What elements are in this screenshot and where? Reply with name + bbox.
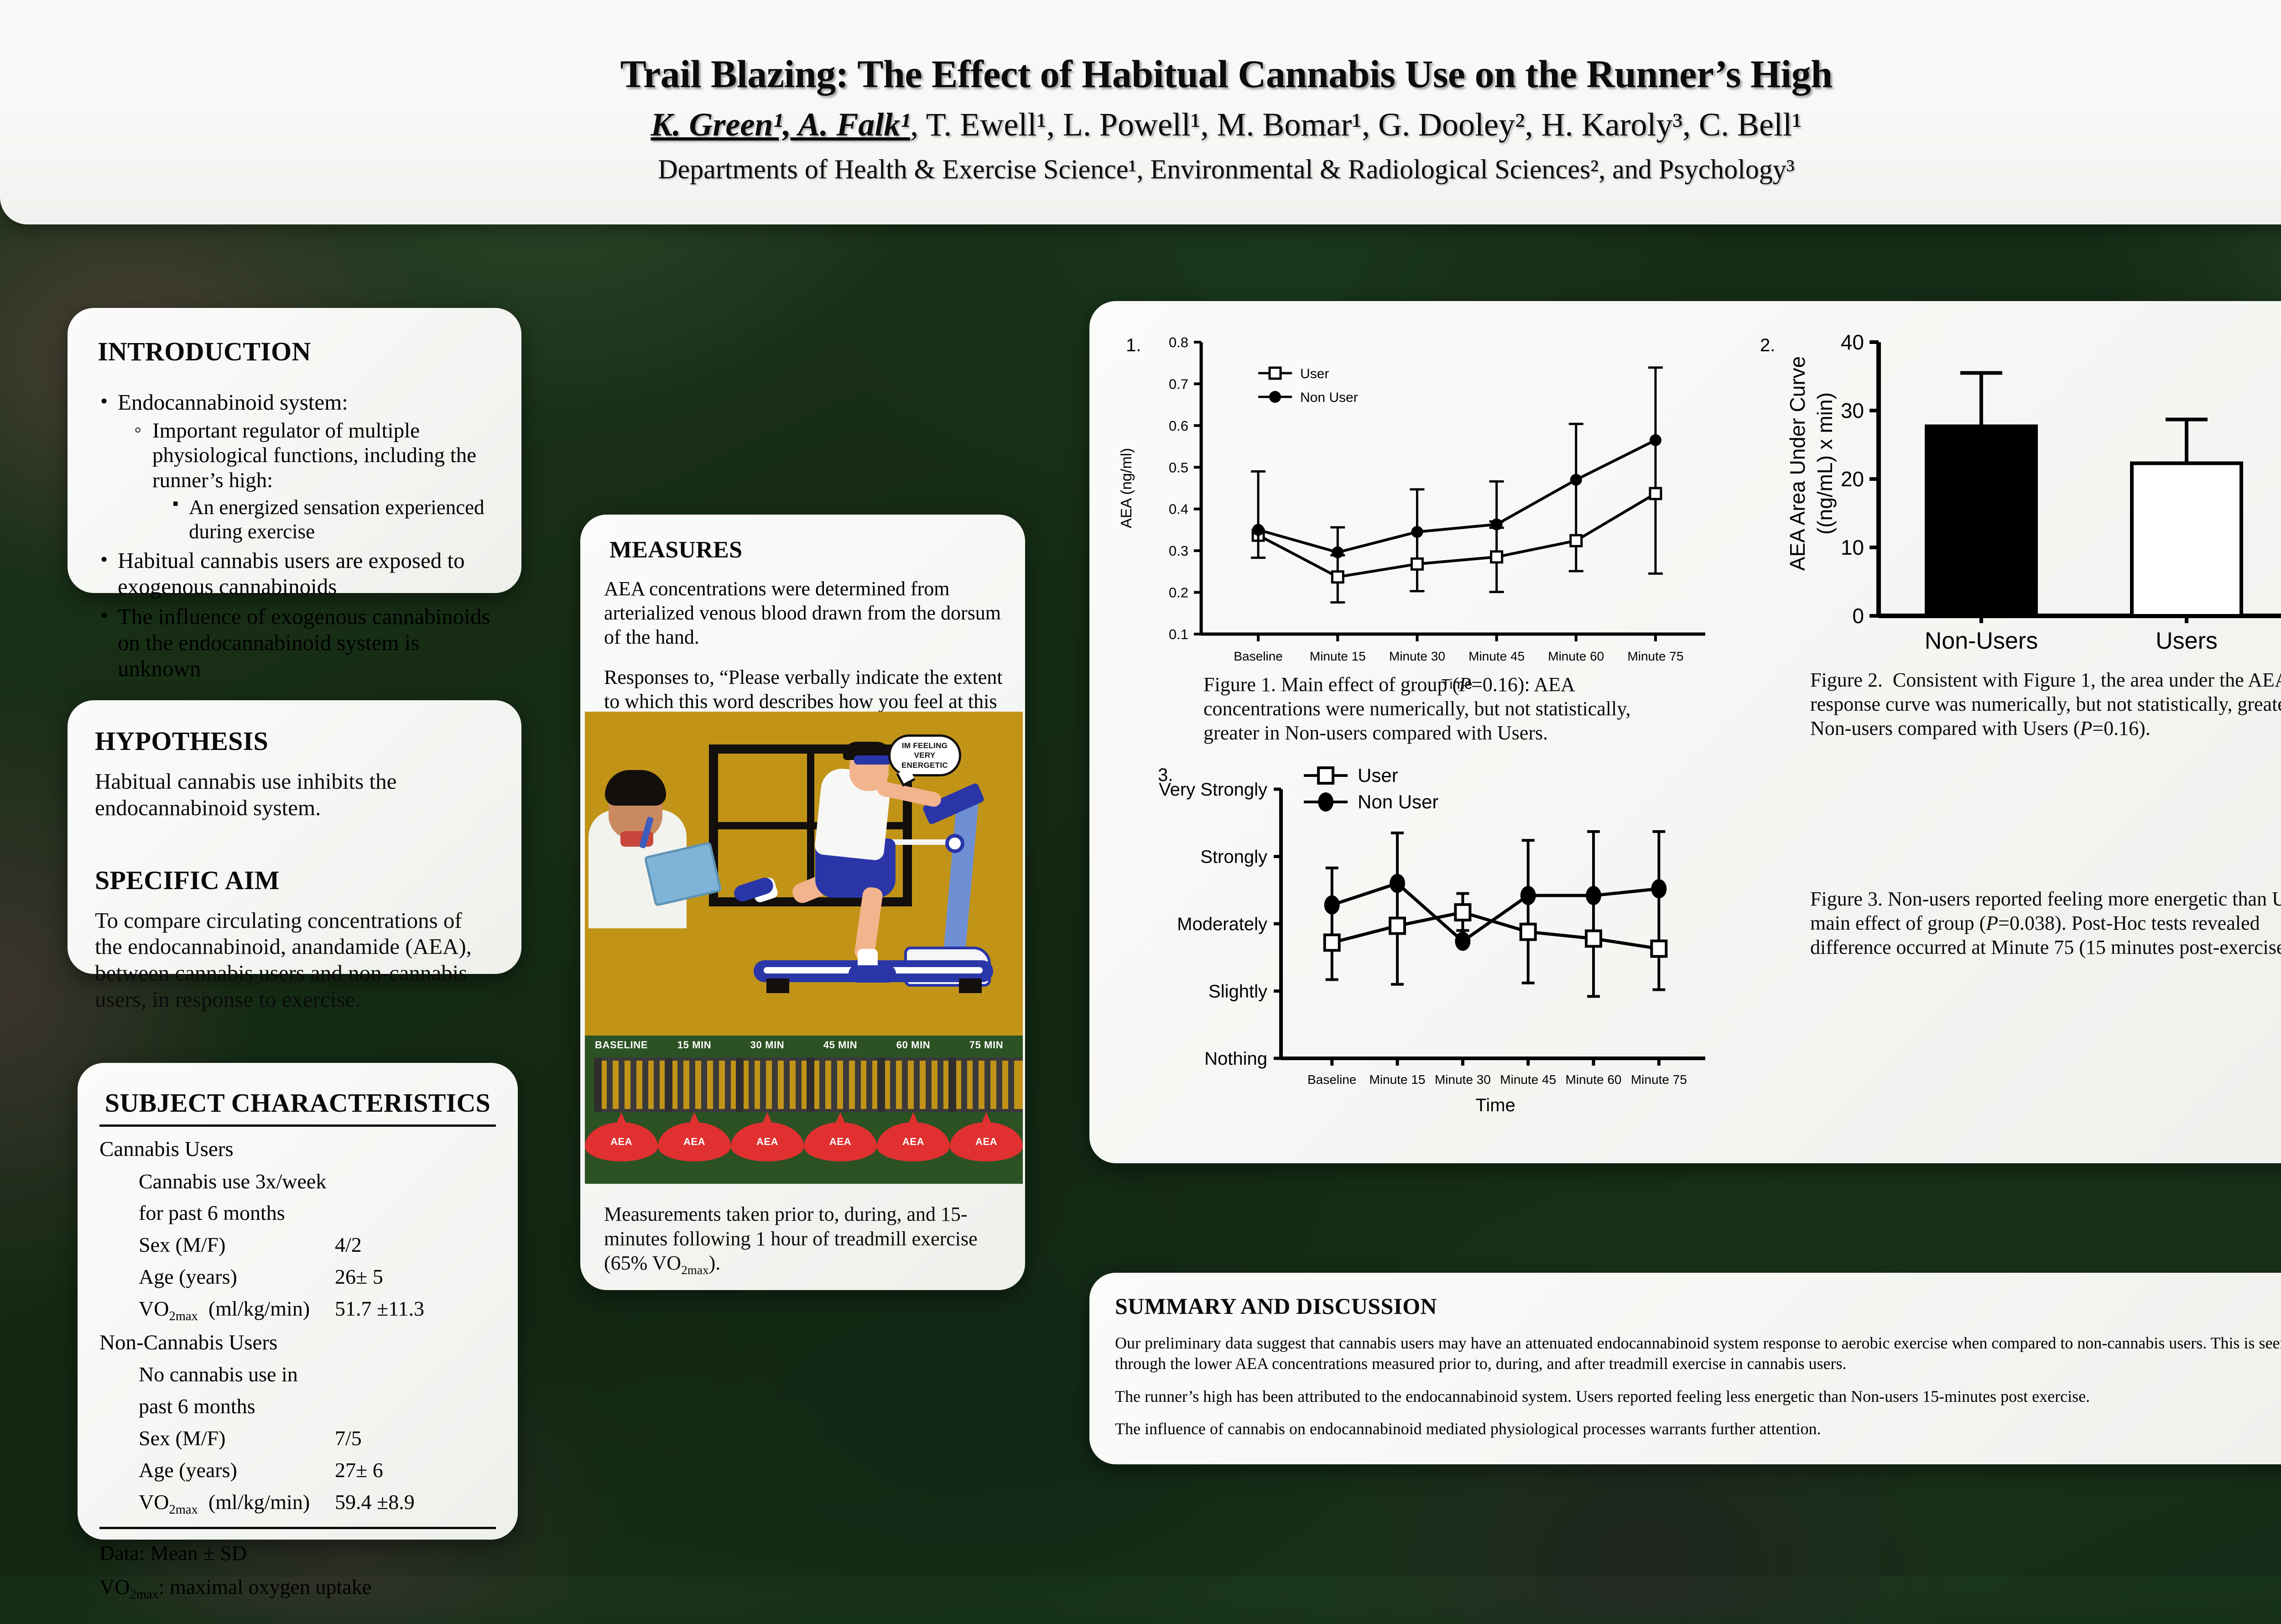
cell-value: 51.7 ±11.3: [335, 1293, 424, 1327]
svg-text:Minute 45: Minute 45: [1469, 649, 1525, 663]
fence-slat: [630, 1061, 636, 1109]
svg-text:Very Strongly: Very Strongly: [1159, 780, 1267, 800]
summary-title: SUMMARY AND DISCUSSION: [1115, 1293, 2281, 1319]
svg-text:Non User: Non User: [1358, 791, 1438, 812]
lead-authors: K. Green¹, A. Falk¹: [651, 106, 910, 143]
cell-label: Age (years): [139, 1261, 335, 1293]
hypothesis-text: Habitual cannabis use inhibits the endoc…: [95, 768, 494, 821]
summary-paragraph-1: Our preliminary data suggest that cannab…: [1115, 1333, 2281, 1374]
table-row: Age (years)27± 6: [99, 1454, 496, 1486]
cell-label: Sex (M/F): [139, 1229, 335, 1261]
cell-label: VO2max (ml/kg/min): [139, 1486, 335, 1520]
figure-3-chart: NothingSlightlyModeratelyStronglyVery St…: [1099, 757, 1719, 1136]
svg-text:Minute 75: Minute 75: [1627, 649, 1683, 663]
subject-characteristics-title: SUBJECT CHARACTERISTICS: [99, 1088, 496, 1118]
svg-text:AEA (ng/ml): AEA (ng/ml): [1118, 448, 1135, 528]
timeline-fence: [598, 1057, 1023, 1112]
treadmill-leg-right: [959, 979, 982, 993]
timeline-label: BASELINE: [585, 1039, 658, 1056]
drop-label: AEA: [829, 1136, 851, 1148]
svg-text:20: 20: [1841, 467, 1864, 491]
introduction-subsublist: An energized sensation experienced durin…: [171, 495, 497, 543]
svg-text:AEA Area Under Curve: AEA Area Under Curve: [1786, 356, 1809, 571]
study-protocol-illustration: IM FEELING VERY ENERGETIC BASELINE 15 MI…: [585, 712, 1023, 1184]
drop-label: AEA: [975, 1136, 997, 1148]
fence-slat: [713, 1061, 719, 1109]
bullet-text: Endocannabinoid system:: [118, 390, 348, 415]
table-row: VO2max (ml/kg/min)59.4 ±8.9: [99, 1486, 496, 1520]
speech-bubble-icon: IM FEELING VERY ENERGETIC: [888, 734, 961, 776]
list-item: The influence of exogenous cannabinoids …: [98, 604, 497, 682]
summary-paragraph-2: The runner’s high has been attributed to…: [1115, 1386, 2281, 1407]
table-row: Sex (M/F)4/2: [99, 1229, 496, 1261]
timeline-post: [736, 1058, 744, 1112]
table-row: No cannabis use in past 6 months: [99, 1359, 496, 1422]
svg-text:0.6: 0.6: [1169, 418, 1188, 434]
figure-3-caption: Figure 3. Non-users reported feeling mor…: [1810, 887, 2281, 959]
blood-drop-icon: AEA: [950, 1122, 1023, 1161]
svg-text:Users: Users: [2156, 628, 2218, 654]
table-row: Age (years)26± 5: [99, 1261, 496, 1293]
bullet-text: An energized sensation experienced durin…: [189, 496, 484, 542]
fence-slat: [831, 1061, 837, 1109]
fence-slat: [961, 1061, 967, 1109]
svg-text:Strongly: Strongly: [1200, 847, 1267, 867]
svg-text:0.8: 0.8: [1169, 334, 1188, 350]
svg-text:0.5: 0.5: [1169, 459, 1188, 475]
table-row: Sex (M/F)7/5: [99, 1422, 496, 1454]
svg-text:Minute 45: Minute 45: [1500, 1072, 1556, 1087]
blood-drop-icon: AEA: [585, 1122, 658, 1161]
measures-title: MEASURES: [604, 536, 1004, 563]
svg-text:User: User: [1300, 366, 1329, 381]
table-top-rule: [99, 1124, 496, 1127]
svg-text:0.4: 0.4: [1169, 501, 1188, 517]
timeline-labels: BASELINE 15 MIN 30 MIN 45 MIN 60 MIN 75 …: [585, 1039, 1023, 1056]
scientist-hair: [605, 770, 666, 806]
cell-label: VO2max (ml/kg/min): [139, 1293, 335, 1327]
bullet-text: Habitual cannabis users are exposed to e…: [118, 548, 465, 599]
svg-text:1.: 1.: [1126, 335, 1141, 355]
svg-text:Minute 75: Minute 75: [1631, 1072, 1687, 1087]
treadmill-knob: [945, 834, 964, 853]
svg-text:3.: 3.: [1158, 765, 1173, 785]
timeline-label: 45 MIN: [804, 1039, 877, 1056]
fence-slat: [677, 1061, 683, 1109]
fence-slat: [984, 1061, 990, 1109]
fence-slat: [866, 1061, 872, 1109]
svg-text:Minute 30: Minute 30: [1435, 1072, 1491, 1087]
measures-caption: Measurements taken prior to, during, and…: [580, 1202, 1025, 1278]
fence-slat: [796, 1061, 802, 1109]
svg-text:0.3: 0.3: [1169, 543, 1188, 559]
fence-slat: [772, 1061, 778, 1109]
fence-slat: [784, 1061, 790, 1109]
cell-note: No cannabis use in past 6 months: [139, 1359, 335, 1422]
timeline-post: [594, 1058, 602, 1112]
blood-sample-markers: AEA AEA AEA AEA AEA AEA: [585, 1122, 1023, 1161]
figure-1-chart: 0.10.20.30.40.50.60.70.8BaselineMinute 1…: [1099, 315, 1719, 716]
introduction-bullet-list: Endocannabinoid system: Important regula…: [98, 390, 497, 682]
timeline-label: 30 MIN: [731, 1039, 804, 1056]
svg-text:Non-Users: Non-Users: [1925, 628, 2038, 654]
svg-text:Minute 15: Minute 15: [1370, 1072, 1426, 1087]
fence-slat: [749, 1061, 755, 1109]
summary-paragraph-3: The influence of cannabis on endocannabi…: [1115, 1419, 2281, 1439]
svg-text:Minute 60: Minute 60: [1566, 1072, 1622, 1087]
group-heading-cannabis-users: Cannabis Users: [99, 1133, 496, 1166]
cell-label: Age (years): [139, 1454, 335, 1486]
blood-drop-icon: AEA: [877, 1122, 950, 1161]
table-row: Cannabis use 3x/week for past 6 months: [99, 1166, 496, 1229]
drop-label: AEA: [683, 1136, 705, 1148]
blood-drop-icon: AEA: [804, 1122, 877, 1161]
fence-slat: [760, 1061, 766, 1109]
fence-slat: [607, 1061, 613, 1109]
svg-text:0.7: 0.7: [1169, 376, 1188, 392]
fence-slat: [654, 1061, 660, 1109]
department-affiliations: Departments of Health & Exercise Science…: [658, 154, 1795, 185]
svg-text:Minute 30: Minute 30: [1389, 649, 1445, 663]
subject-characteristics-panel: SUBJECT CHARACTERISTICS Cannabis Users C…: [78, 1063, 518, 1540]
fence-slat: [973, 1061, 979, 1109]
svg-text:Non User: Non User: [1300, 390, 1358, 405]
list-item: Endocannabinoid system: Important regula…: [98, 390, 497, 543]
blood-drop-icon: AEA: [658, 1122, 731, 1161]
group-heading-non-cannabis-users: Non-Cannabis Users: [99, 1327, 496, 1359]
hypothesis-aim-panel: HYPOTHESIS Habitual cannabis use inhibit…: [68, 700, 521, 974]
fence-slat: [890, 1061, 896, 1109]
runner-headband: [854, 755, 891, 765]
timeline-label: 15 MIN: [658, 1039, 731, 1056]
fence-slat: [996, 1061, 1002, 1109]
protocol-timeline: BASELINE 15 MIN 30 MIN 45 MIN 60 MIN 75 …: [585, 1036, 1023, 1184]
figure-1-caption: Figure 1. Main effect of group (P=0.16):…: [1203, 673, 1669, 745]
cell-value: 59.4 ±8.9: [335, 1486, 415, 1520]
svg-text:Time: Time: [1475, 1095, 1515, 1115]
svg-text:((ng/mL) x min): ((ng/mL) x min): [1813, 392, 1837, 535]
svg-text:Minute 15: Minute 15: [1310, 649, 1366, 663]
bullet-text: The influence of exogenous cannabinoids …: [118, 604, 490, 681]
svg-text:0.1: 0.1: [1169, 626, 1188, 642]
list-item: An energized sensation experienced durin…: [171, 495, 497, 543]
summary-discussion-panel: SUMMARY AND DISCUSSION Our preliminary d…: [1089, 1273, 2281, 1464]
svg-text:30: 30: [1841, 399, 1864, 422]
blood-drop-icon: AEA: [731, 1122, 804, 1161]
fence-slat: [725, 1061, 731, 1109]
cell-value: 26± 5: [335, 1261, 383, 1293]
drop-label: AEA: [610, 1136, 632, 1148]
specific-aim-text: To compare circulating concentrations of…: [95, 907, 494, 1013]
fence-slat: [855, 1061, 861, 1109]
fence-slat: [819, 1061, 825, 1109]
introduction-title: INTRODUCTION: [98, 336, 497, 367]
speech-bubble-text: IM FEELING VERY ENERGETIC: [891, 741, 959, 770]
list-item: Important regulator of multiple physiolo…: [133, 418, 497, 543]
cell-note: Cannabis use 3x/week for past 6 months: [139, 1166, 335, 1229]
footnote-data: Data: Mean ± SD: [99, 1536, 496, 1570]
fence-slat: [1008, 1061, 1014, 1109]
runner-front-shoe: [849, 965, 896, 983]
list-item: Habitual cannabis users are exposed to e…: [98, 548, 497, 600]
svg-text:Baseline: Baseline: [1307, 1072, 1356, 1087]
cell-label: Sex (M/F): [139, 1422, 335, 1454]
svg-text:Moderately: Moderately: [1177, 914, 1267, 934]
cell-value: 27± 6: [335, 1454, 383, 1486]
results-panel: 0.10.20.30.40.50.60.70.8BaselineMinute 1…: [1089, 301, 2281, 1163]
cell-value: 4/2: [335, 1229, 362, 1261]
drop-label: AEA: [902, 1136, 924, 1148]
svg-text:2.: 2.: [1760, 335, 1775, 355]
fence-slat: [926, 1061, 932, 1109]
author-list: K. Green¹, A. Falk¹, T. Ewell¹, L. Powel…: [651, 106, 1802, 144]
svg-text:Minute 60: Minute 60: [1548, 649, 1604, 663]
svg-text:40: 40: [1841, 330, 1864, 354]
footnote-vo2max: VO2max: maximal oxygen uptake: [99, 1570, 496, 1605]
svg-text:User: User: [1358, 765, 1398, 786]
fence-slat: [642, 1061, 648, 1109]
cell-value: 7/5: [335, 1422, 362, 1454]
svg-text:Baseline: Baseline: [1234, 649, 1282, 663]
timeline-post: [877, 1058, 885, 1112]
fence-slat: [619, 1061, 625, 1109]
page-title: Trail Blazing: The Effect of Habitual Ca…: [620, 51, 1833, 97]
svg-text:0: 0: [1852, 604, 1864, 628]
fence-slat: [843, 1061, 849, 1109]
svg-text:Slightly: Slightly: [1208, 982, 1267, 1002]
introduction-sublist: Important regulator of multiple physiolo…: [133, 418, 497, 543]
introduction-panel: INTRODUCTION Endocannabinoid system: Imp…: [68, 308, 521, 593]
fence-slat: [902, 1061, 908, 1109]
specific-aim-title: SPECIFIC AIM: [95, 865, 494, 895]
figure-2-caption: Figure 2. Consistent with Figure 1, the …: [1810, 668, 2281, 740]
svg-text:0.2: 0.2: [1169, 585, 1188, 601]
timeline-label: 60 MIN: [877, 1039, 950, 1056]
timeline-post: [807, 1058, 814, 1112]
timeline-post: [665, 1058, 672, 1112]
bullet-text: Important regulator of multiple physiolo…: [152, 419, 476, 492]
svg-text:Nothing: Nothing: [1204, 1049, 1267, 1069]
fence-slat: [701, 1061, 707, 1109]
fence-slat: [937, 1061, 943, 1109]
timeline-label: 75 MIN: [950, 1039, 1023, 1056]
svg-text:10: 10: [1841, 536, 1864, 559]
co-authors: , T. Ewell¹, L. Powell¹, M. Bomar¹, G. D…: [910, 106, 1802, 143]
timeline-post: [948, 1058, 956, 1112]
treadmill-leg-left: [766, 979, 789, 993]
fence-slat: [689, 1061, 695, 1109]
hypothesis-title: HYPOTHESIS: [95, 726, 494, 756]
poster-header: Trail Blazing: The Effect of Habitual Ca…: [0, 0, 2281, 224]
fence-slat: [914, 1061, 920, 1109]
table-bottom-rule: [99, 1527, 496, 1529]
drop-label: AEA: [756, 1136, 778, 1148]
figure-2-chart: 010203040Non-UsersUsersAEA Area Under Cu…: [1728, 315, 2281, 716]
table-row: VO2max (ml/kg/min)51.7 ±11.3: [99, 1293, 496, 1327]
measures-paragraph-1: AEA concentrations were determined from …: [604, 577, 1004, 649]
